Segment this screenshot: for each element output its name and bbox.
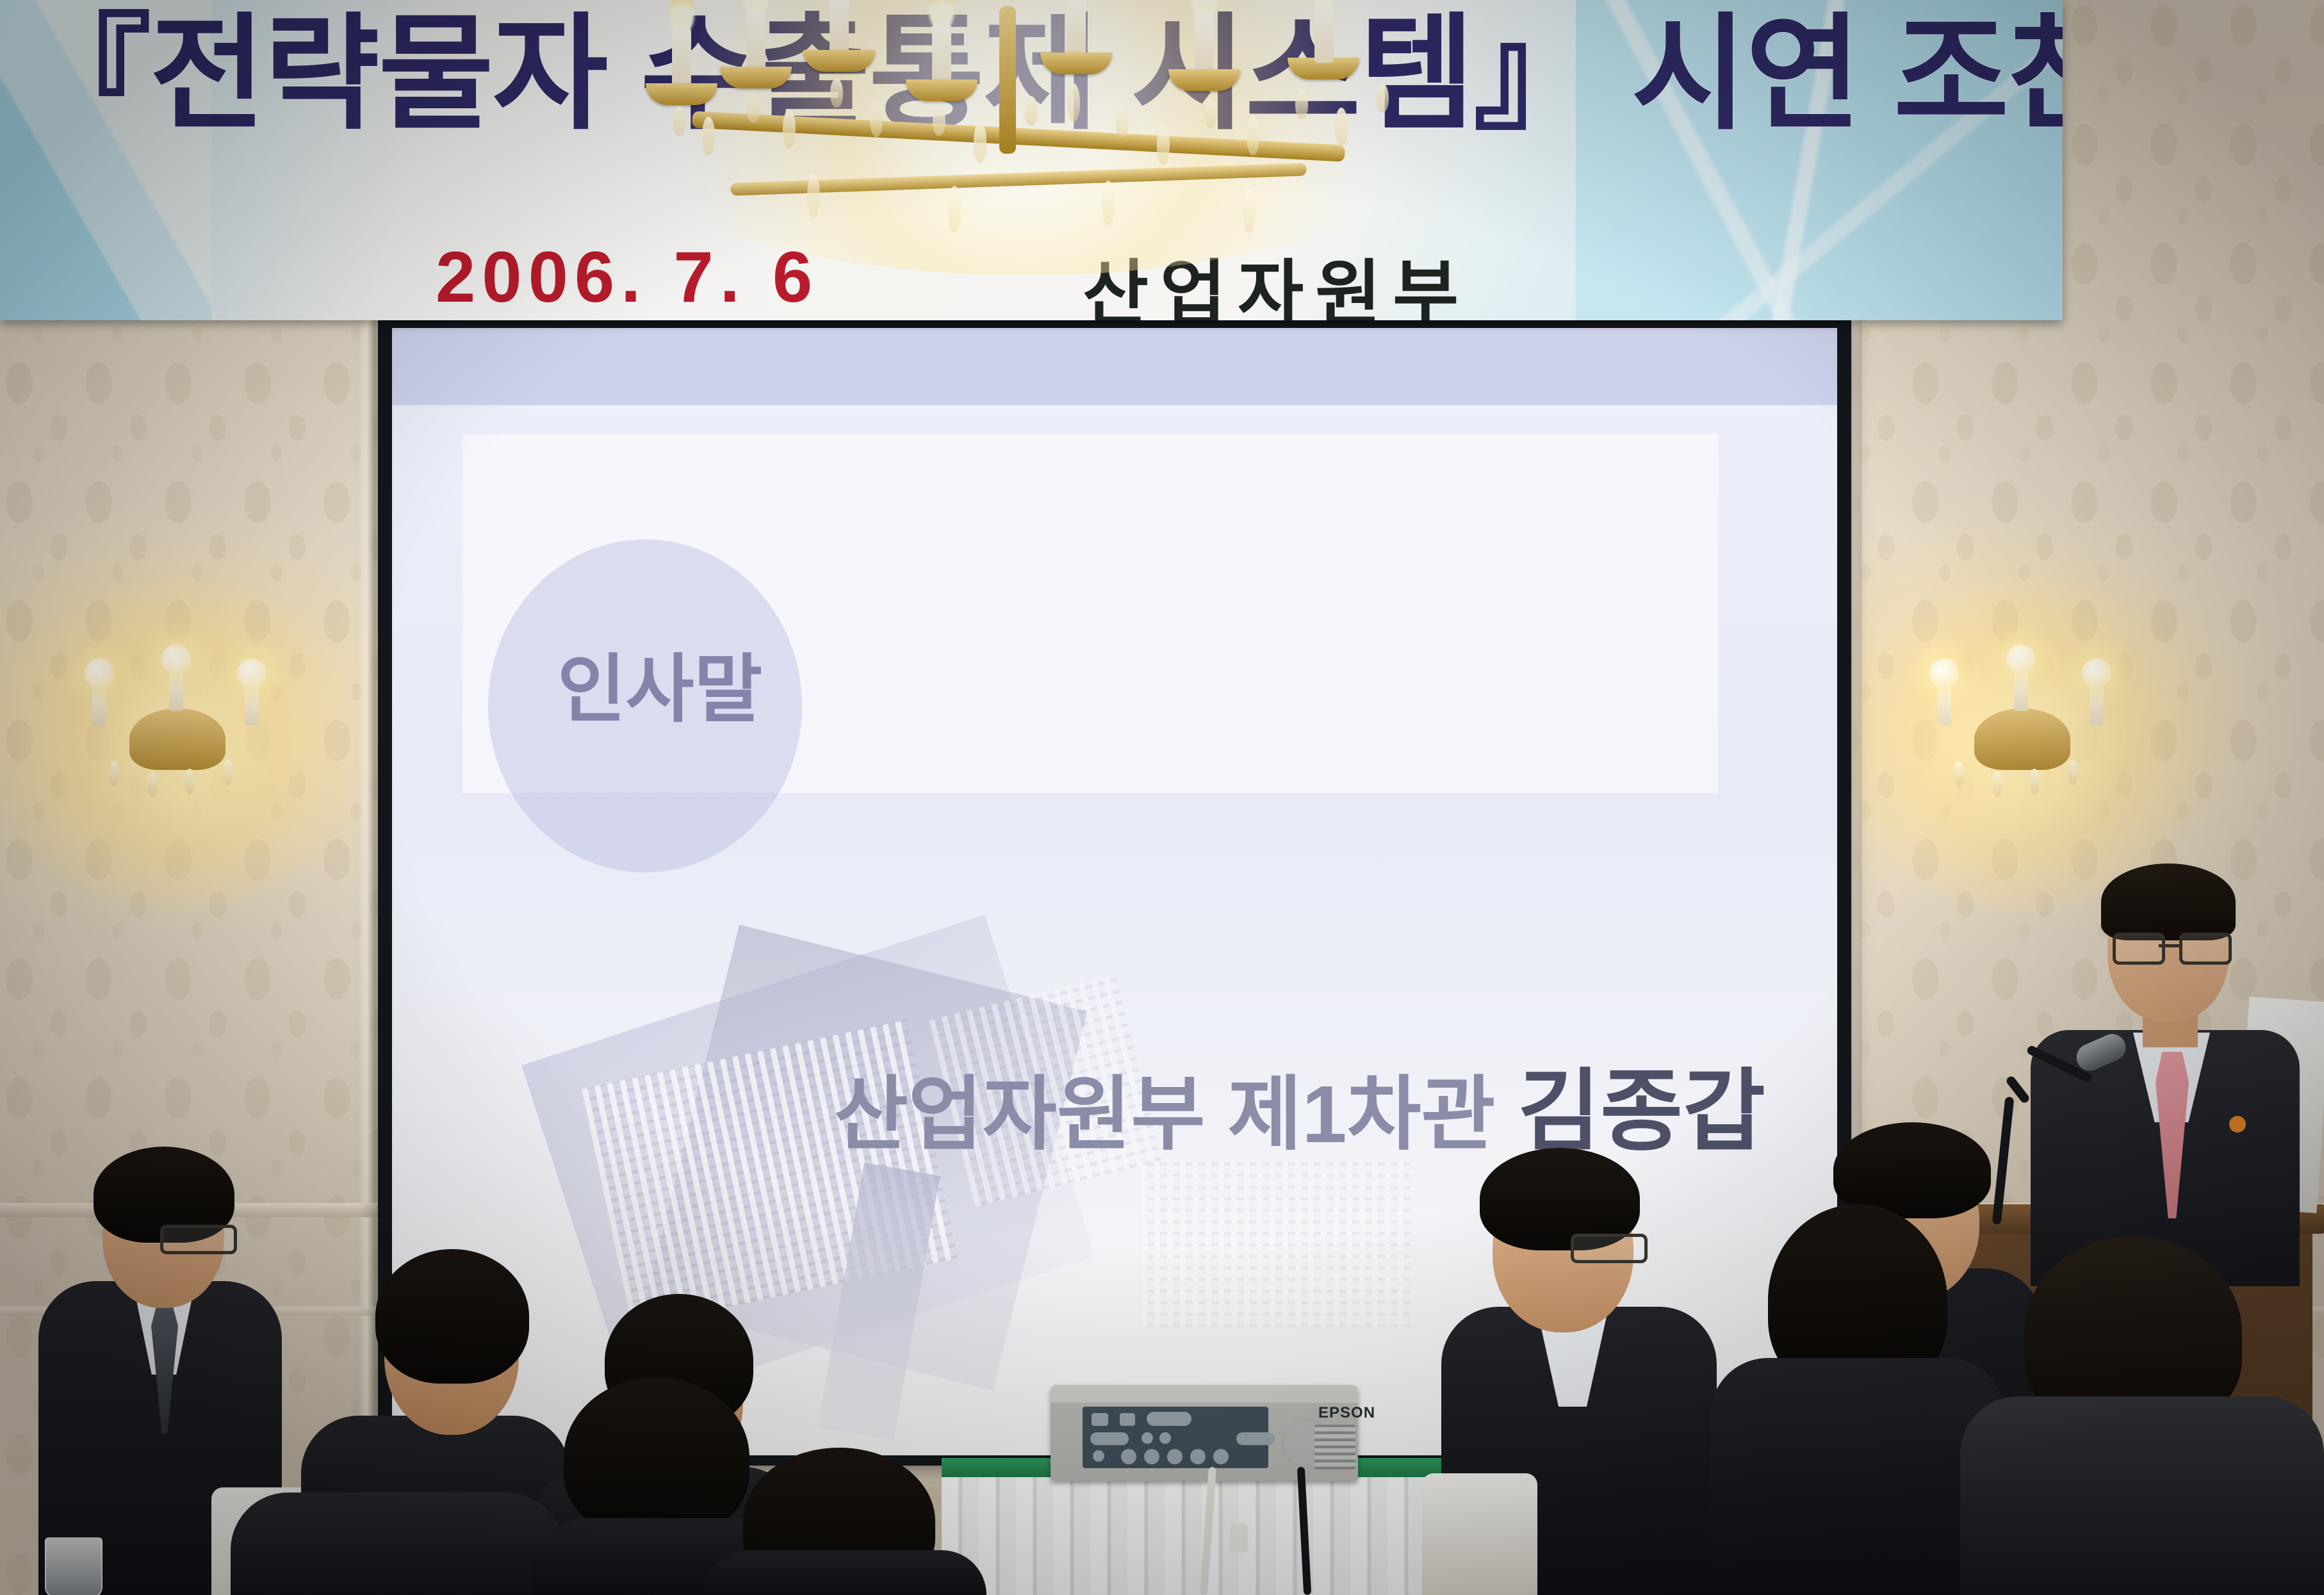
chandelier-candle-1: [672, 28, 691, 87]
chandelier-crystal-7: [933, 106, 945, 136]
sconce-body-right: [1974, 708, 2070, 770]
chandelier-crystal-8: [974, 122, 986, 163]
projector-bnc-3: [1167, 1449, 1182, 1464]
slide-kicker-text: 인사말: [557, 629, 762, 737]
sconce-crystal-left-3: [184, 769, 195, 794]
artwork-data-dots-right: [1142, 1161, 1411, 1327]
speaker-at-podium: [2011, 871, 2312, 1268]
sconce-bulb-right-1: [1929, 658, 1959, 688]
microphone-boom: [1986, 1038, 2133, 1230]
projector-port-audio-3: [1093, 1450, 1104, 1462]
sconce-candle-right-2: [2014, 669, 2028, 711]
sconce-crystal-right-1: [1954, 761, 1964, 787]
chandelier-crystal-11: [1116, 108, 1129, 137]
chandelier-crystal-4: [783, 109, 796, 149]
chandelier-crystal-18: [807, 173, 820, 218]
sconce-crystal-right-4: [2068, 760, 2078, 785]
sconce-crystal-left-1: [109, 761, 119, 787]
chandelier-crystal-9: [1025, 96, 1038, 126]
projector-bnc-1: [1121, 1449, 1136, 1464]
water-glass: [45, 1537, 102, 1595]
chandelier-crystal-21: [1243, 190, 1256, 233]
slide-speaker-line: 산업자원부 제1차관 김종갑: [834, 1039, 1765, 1168]
sconce-crystal-left-2: [147, 771, 158, 797]
sconce-body-left: [129, 708, 225, 770]
chandelier-candle-4: [932, 24, 951, 83]
sconce-candle-left-2: [169, 669, 183, 711]
chandelier-crystal-14: [1247, 115, 1259, 155]
chandelier-candle-6: [1195, 14, 1214, 73]
projector-bnc-5: [1213, 1449, 1229, 1464]
chandelier-crystal-10: [1067, 83, 1080, 122]
projector-port-audio-1: [1142, 1432, 1153, 1444]
slide-speaker-org: 산업자원부 제1차관: [834, 1069, 1518, 1159]
sconce-crystal-left-4: [223, 760, 233, 785]
chandelier-candle-5: [1067, 0, 1086, 56]
chandelier-crystal-1: [673, 106, 685, 136]
projector-cable-connector: [1230, 1523, 1248, 1553]
audience-center-left-1-hair: [375, 1249, 529, 1384]
sconce-crystal-right-3: [2029, 769, 2040, 794]
sconce-candle-left-1: [92, 683, 106, 725]
sconce-bulb-right-3: [2082, 658, 2111, 688]
sconce-bulb-left-1: [85, 658, 114, 688]
sconce-crystal-right-2: [1992, 771, 2002, 797]
chandelier-bobeche-5: [1040, 53, 1112, 74]
chandelier-bobeche-6: [1168, 69, 1240, 91]
sconce-candle-right-1: [1937, 683, 1951, 725]
audience-center-1-hair: [564, 1377, 749, 1537]
sconce-candle-left-3: [245, 683, 259, 725]
chandelier-crystal-16: [1335, 108, 1348, 146]
audience-center-1-suit: [231, 1493, 564, 1595]
slide-speaker-name: 김종갑: [1518, 1061, 1765, 1161]
projector-port-usb: [1120, 1413, 1135, 1426]
projector-bnc-4: [1190, 1449, 1206, 1464]
chandelier-crystal-19: [948, 186, 961, 232]
chandelier-crystal-20: [1102, 181, 1115, 225]
sconce-candle-right-3: [2090, 683, 2104, 725]
sconce-bulb-left-2: [161, 644, 191, 674]
projector-vent-grille: [1314, 1425, 1355, 1469]
projector-port-serial: [1147, 1412, 1191, 1426]
chandelier-crystal-13: [1204, 99, 1217, 128]
speaker-hair: [2101, 863, 2236, 940]
projector-port-lan: [1092, 1413, 1108, 1426]
speaker-glasses-lens-left: [2113, 933, 2165, 965]
chair-back-right: [1422, 1473, 1537, 1595]
chandelier-crystal-6: [870, 100, 883, 137]
chandelier-candle-7: [1314, 4, 1334, 63]
audience-right-1-glasses: [1571, 1234, 1648, 1263]
chandelier-bobeche-4: [906, 79, 978, 101]
projector-port-audio-2: [1159, 1432, 1171, 1444]
chandelier-bobeche-1: [646, 83, 717, 105]
chandelier-crystal-2: [702, 117, 715, 155]
chandelier-crystal-17: [1376, 83, 1389, 113]
audience-center-2-shoulders: [705, 1550, 986, 1595]
chandelier-crystal-15: [1295, 90, 1308, 119]
projector-port-vga: [1090, 1432, 1129, 1445]
chandelier-crystal-12: [1157, 123, 1170, 165]
speaker-glasses-bridge: [2159, 944, 2179, 947]
chandelier-bobeche-3: [803, 50, 875, 72]
chandelier-crystal-5: [830, 78, 843, 108]
chandelier-candle-3: [830, 0, 849, 54]
chandelier-center-column: [999, 6, 1016, 154]
wall-sconce-right: [1915, 641, 2127, 833]
chandelier-candle-2: [746, 12, 765, 70]
speaker-glasses: [2113, 933, 2225, 960]
photo-scene: 인사말 산업자원부 제1차관 김종갑 『전략물자 수출통제 시스템』 시연 조찬…: [0, 0, 2324, 1595]
microphone-rod-lower: [1992, 1097, 2015, 1225]
projector-port-dvi: [1236, 1432, 1275, 1445]
crystal-chandelier: [615, 0, 1422, 250]
audience-right-front-suit: [1960, 1396, 2324, 1595]
projector-bnc-2: [1144, 1449, 1159, 1464]
speaker-lapel-pin: [2229, 1116, 2246, 1133]
sconce-bulb-right-2: [2006, 644, 2036, 674]
speaker-glasses-lens-right: [2179, 933, 2232, 965]
projector-connector-panel: [1083, 1407, 1268, 1468]
chandelier-crystal-3: [747, 94, 760, 123]
audience-left-front-glasses: [160, 1225, 237, 1254]
chandelier-bobeche-2: [720, 67, 792, 88]
epson-logo-text: EPSON: [1318, 1404, 1375, 1422]
wall-sconce-left: [70, 641, 282, 833]
sconce-bulb-left-3: [237, 658, 266, 688]
